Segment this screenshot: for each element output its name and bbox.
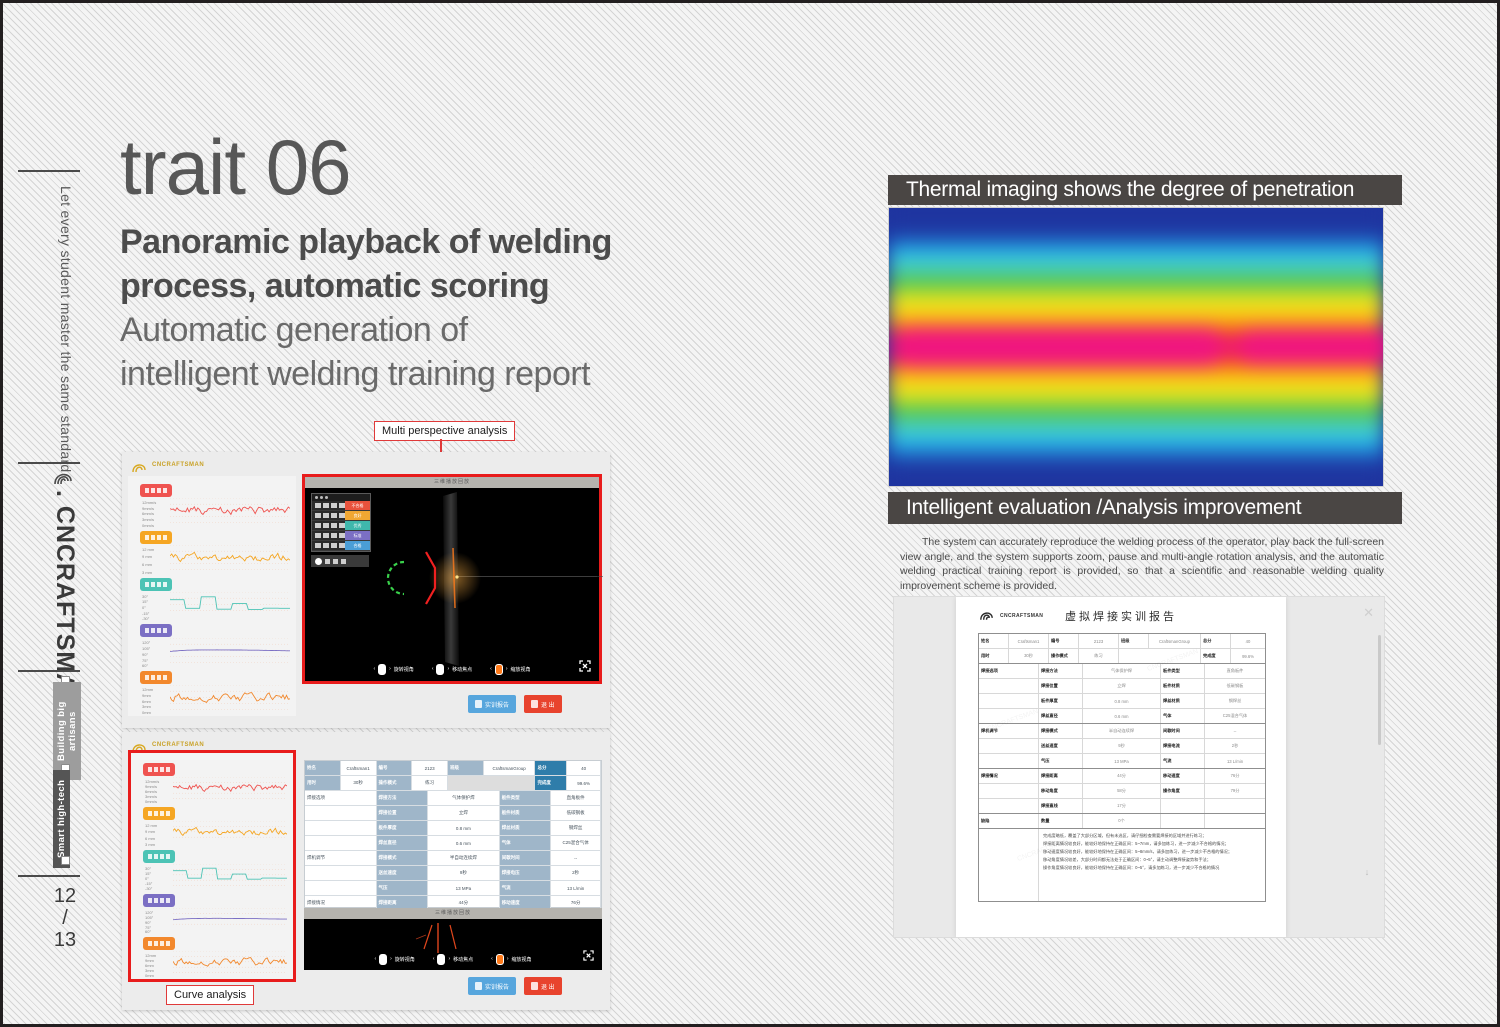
table-cell: 焊接位置 — [377, 806, 429, 820]
table-cell: 气压 — [377, 881, 429, 895]
report-table-cell: 班级 — [1119, 634, 1149, 648]
report-table-cell: CraftsmanGroup — [1149, 634, 1201, 648]
button-label: 实训报告 — [485, 982, 509, 991]
table-cell: 0.8 mm — [428, 821, 500, 835]
table-cell: 13 MPa — [428, 881, 500, 895]
table-row: 板件厚度0.8 mm焊丝材质钢焊丝 — [305, 821, 601, 836]
legend-cells — [312, 511, 345, 520]
table-cell: C25混合气体 — [551, 836, 601, 850]
page-title: Panoramic playback of welding process, a… — [120, 220, 740, 308]
mouse-left-icon — [379, 954, 387, 965]
curve-axis-tick: 6 mm — [145, 836, 155, 841]
table-cell: 板件类型 — [500, 791, 552, 805]
report-table-cell: Craftsman1 — [1009, 634, 1049, 648]
viewer-control-mouse-right-icon[interactable]: ‹›缩放视角 — [490, 664, 530, 675]
report-table-row: 姓名Craftsman1编号2123班级CraftsmanGroup总分40 — [979, 634, 1265, 649]
dot-icon — [315, 496, 318, 499]
report-table-row: 板件厚度0.8 mm焊丝材质钢焊丝 — [979, 694, 1265, 709]
fullscreen-icon[interactable] — [579, 660, 591, 675]
report-table-cell: 焊丝直径 — [1039, 709, 1083, 723]
table-cell: 40 — [567, 761, 601, 775]
button-report-icon[interactable]: 实训报告 — [468, 977, 516, 995]
legend-row[interactable]: 标准 — [312, 531, 370, 541]
report-table-cell — [1205, 799, 1265, 813]
viewer-titlebar: 三维播放回放 — [304, 908, 602, 919]
report-table-cell — [979, 739, 1039, 753]
curve-tag-4 — [143, 937, 175, 950]
report-table-row: 焊接位置立焊板件材质低碳钢板 — [979, 679, 1265, 694]
viewer-control-mouse-left-icon[interactable]: ‹›旋转视角 — [374, 954, 414, 965]
table-row: 焊丝直径0.6 mm气体C25混合气体 — [305, 836, 601, 851]
report-document-preview[interactable]: CNCRAFTSMAN 虚拟焊接实训报告 姓名Craftsman1编号2123班… — [893, 596, 1385, 938]
curve-axis-tick: -30° — [142, 616, 149, 621]
table-cell: 焊接电压 — [500, 866, 552, 880]
legend-row[interactable]: 合格 — [312, 541, 370, 551]
table-cell: 班级 — [448, 761, 484, 775]
curve-tag-0 — [140, 484, 172, 497]
curve-axis-tick: 60° — [145, 929, 151, 934]
sidebar-tagline: Let every student master the same standa… — [58, 186, 74, 473]
curve-axis-tick: 60° — [142, 663, 148, 668]
curve-tag-2 — [140, 578, 172, 591]
curve-tag-0 — [143, 763, 175, 776]
report-table-cell: 30秒 — [1009, 649, 1049, 663]
viewer-titlebar: 三维播放回放 — [305, 477, 599, 488]
app-logo-text: CNCRAFTSMAN — [152, 742, 204, 748]
report-table-cell: 板件材质 — [1161, 679, 1205, 693]
report-table-cell — [1161, 814, 1205, 828]
report-table-cell: 9秒 — [1083, 739, 1161, 753]
report-table-cell: 立焊 — [1083, 679, 1161, 693]
legend-swatch: 良好 — [345, 511, 370, 520]
viewer-control-mouse-left-icon[interactable]: ‹›旋转视角 — [373, 664, 413, 675]
report-table-cell — [979, 694, 1039, 708]
table-cell: 立焊 — [428, 806, 500, 820]
sidebar-divider — [18, 462, 80, 464]
report-table-cell: 17分 — [1083, 799, 1161, 813]
dot-icon — [325, 496, 328, 499]
screenshot-top[interactable]: CNCRAFTSMAN 12mm/s9mm/s6mm/s3mm/s0mm/s12… — [122, 452, 610, 728]
table-cell: 编号 — [377, 761, 413, 775]
table-cell: 13 L/min — [551, 881, 601, 895]
curve-axis-tick: 30° — [142, 594, 148, 599]
report-note-item: 焊接距离情况较良好，能较好地保持在正确区间：5~7mm，请多加练习，进一步减少不… — [1043, 840, 1261, 848]
report-table-cell — [979, 679, 1039, 693]
report-table-cell: 直角板件 — [1205, 664, 1265, 678]
report-table-cell: 2123 — [1079, 634, 1119, 648]
page-canvas: Let every student master the same standa… — [0, 0, 1500, 1027]
page-subtitle-line2: intelligent welding training report — [120, 352, 740, 396]
table-cell: 焊丝材质 — [500, 821, 552, 835]
report-table: 姓名Craftsman1编号2123班级CraftsmanGroup总分40用时… — [304, 760, 602, 908]
table-cell: 气流 — [500, 881, 552, 895]
scrollbar-thumb[interactable] — [1378, 635, 1381, 745]
report-table-cell — [979, 784, 1039, 798]
curve-trace-3 — [170, 638, 290, 663]
tool-cell — [341, 559, 346, 564]
legend-swatch: 优秀 — [345, 521, 370, 530]
curve-tag-1 — [143, 807, 175, 820]
sidebar-divider — [18, 875, 80, 877]
table-cell: 姓名 — [305, 761, 341, 775]
viewer-titlebar-label: 三维播放回放 — [305, 477, 599, 488]
curve-axis-tick: 9 mm — [145, 829, 155, 834]
button-exit-icon[interactable]: 退 出 — [524, 695, 562, 713]
curve-trace-2 — [170, 592, 290, 617]
app-logo-text: CNCRAFTSMAN — [152, 462, 204, 468]
table-cell — [305, 866, 377, 880]
close-icon[interactable]: ✕ — [1363, 606, 1374, 619]
sidebar-divider — [18, 670, 80, 672]
report-table-cell: 钢焊丝 — [1205, 694, 1265, 708]
curve-trace-0 — [170, 498, 290, 523]
curve-axis-tick: 15° — [142, 599, 148, 604]
curve-tag-3 — [140, 624, 172, 637]
badge-dot — [61, 856, 70, 865]
report-table-cell: 99.6% — [1231, 649, 1265, 663]
report-table-row: 焊接直线17分 — [979, 799, 1265, 814]
report-table-cell: 姓名 — [979, 634, 1009, 648]
curve-axis-tick: 0° — [142, 605, 146, 610]
table-cell: 操作模式 — [377, 776, 413, 790]
table-cell — [305, 806, 377, 820]
viewer-control-mouse-right-icon[interactable]: ‹›缩放视角 — [491, 954, 531, 965]
report-table-cell: 编号 — [1049, 634, 1079, 648]
band-intelligent-evaluation: Intelligent evaluation /Analysis improve… — [888, 492, 1402, 524]
cncraftsman-logo-icon — [51, 466, 75, 488]
table-cell: 半自动连续焊 — [428, 851, 500, 865]
report-table-cell: 练习 — [1079, 649, 1119, 663]
screenshot-bottom[interactable]: CNCRAFTSMAN 12mm/s9mm/s6mm/s3mm/s0mm/s12… — [122, 732, 610, 1010]
table-cell — [305, 821, 377, 835]
table-row: 姓名Craftsman1编号2123班级CraftsmanGroup总分40 — [305, 761, 601, 776]
legend-swatch: 合格 — [345, 541, 370, 550]
callout-curve-analysis: Curve analysis — [166, 985, 254, 1005]
viewer-control-label: 旋转视角 — [395, 956, 415, 963]
tool-cell — [325, 559, 330, 564]
table-cell: 9秒 — [428, 866, 500, 880]
button-label: 退 出 — [541, 982, 555, 991]
curve-axis-tick: 6 mm — [142, 562, 152, 567]
report-table-row: 缺陷数量0个 — [979, 814, 1265, 829]
three-d-viewer-top[interactable]: 三维播放回放 — [302, 474, 602, 684]
report-icon — [475, 982, 482, 990]
report-note-item: 移动角度情况较差，大部分时间都无法处于正确区间：0~5°，请主动调整焊接姿势和手… — [1043, 856, 1261, 864]
table-row: 焊接位置立焊板件材质低碳钢板 — [305, 806, 601, 821]
table-cell: 焊接模式 — [377, 851, 429, 865]
table-cell: 总分 — [535, 761, 567, 775]
curve-axis-tick: 0mm — [145, 973, 154, 978]
report-note-item: 完成度略低，覆盖了大部分区域，但有未选区，请仔细检查需要焊接的区域并进行练习； — [1043, 832, 1261, 840]
report-table-cell: 半自动连续焊 — [1083, 724, 1161, 738]
table-row: 用时30秒操作模式练习完成度99.6% — [305, 776, 601, 791]
curve-trace-0 — [173, 777, 287, 799]
mouse-middle-icon — [437, 954, 445, 965]
curve-axis-tick: 6mm/s — [142, 511, 154, 516]
table-cell: 气体 — [500, 836, 552, 850]
report-table-cell: 79分 — [1205, 784, 1265, 798]
curve-axis-tick: 6mm — [142, 699, 151, 704]
viewer-control-label: 移动焦点 — [453, 956, 473, 963]
curve-axis-tick: 3 mm — [145, 842, 155, 847]
curve-axis-tick: 0mm/s — [145, 799, 157, 804]
page-current: 12 — [47, 885, 83, 907]
down-arrow-icon[interactable]: ↓ — [1362, 867, 1372, 877]
mouse-left-icon — [378, 664, 386, 675]
button-label: 实训报告 — [485, 700, 509, 709]
curve-axis-tick: 0mm — [142, 710, 151, 715]
report-table-cell: 移动速度 — [1161, 769, 1205, 783]
table-cell: 完成度 — [535, 776, 567, 790]
curve-axis-tick: 90° — [142, 652, 148, 657]
viewer-control-label: 缩放视角 — [511, 666, 531, 673]
curve-axis-tick: 9 mm — [142, 554, 152, 559]
curve-axis-tick: 3mm — [142, 704, 151, 709]
viewer-controls[interactable]: ‹›旋转视角‹›移动焦点‹›缩放视角 — [305, 661, 599, 677]
page-total: 13 — [47, 929, 83, 951]
curve-tag-4 — [140, 671, 172, 684]
report-table-cell: 气压 — [1039, 754, 1083, 768]
viewer-control-label: 缩放视角 — [512, 956, 532, 963]
table-cell: 0.6 mm — [428, 836, 500, 850]
table-row: 送丝速度9秒焊接电压2秒 — [305, 866, 601, 881]
report-notes-label — [979, 829, 1039, 901]
table-cell: 焊丝直径 — [377, 836, 429, 850]
mouse-right-icon — [496, 954, 504, 965]
exit-icon — [531, 982, 538, 990]
report-table-cell: 低碳钢板 — [1205, 679, 1265, 693]
page-title-line1: Panoramic playback of welding — [120, 220, 740, 264]
app-logo-icon — [130, 459, 148, 475]
report-table-cell: 操作模式 — [1049, 649, 1079, 663]
weld-scene-small — [304, 919, 602, 953]
curve-axis-tick: 9mm/s — [142, 506, 154, 511]
table-cell — [305, 836, 377, 850]
report-table-row: 焊接情况焊接距离44分移动速度76分 — [979, 769, 1265, 784]
viewer-controls[interactable]: ‹›旋转视角‹›移动焦点‹›缩放视角 — [304, 951, 602, 967]
report-table-row: 移动角度58分操作角度79分 — [979, 784, 1265, 799]
table-cell: 气体保护焊 — [428, 791, 500, 805]
curve-axis-tick: 12mm — [142, 687, 153, 692]
report-table-cell — [1161, 799, 1205, 813]
table-cell: 练习 — [412, 776, 448, 790]
mouse-right-icon — [495, 664, 503, 675]
button-report-icon[interactable]: 实训报告 — [468, 695, 516, 713]
fullscreen-icon[interactable] — [583, 950, 594, 964]
report-table-cell: 44分 — [1083, 769, 1161, 783]
curve-axis-tick: -15° — [142, 611, 149, 616]
band-thermal-imaging: Thermal imaging shows the degree of pene… — [888, 175, 1402, 205]
curve-analysis-panel: 12mm/s9mm/s6mm/s3mm/s0mm/s12 mm9 mm6 mm3… — [128, 476, 296, 716]
legend-swatch: 标准 — [345, 531, 370, 540]
screenshot-actions[interactable]: 实训报告退 出 — [468, 695, 562, 713]
table-cell: 焊接方法 — [377, 791, 429, 805]
report-table-cell: 板件厚度 — [1039, 694, 1083, 708]
body-paragraph-text: The system can accurately reproduce the … — [900, 536, 1384, 592]
report-notes-body: 完成度略低，覆盖了大部分区域，但有未选区，请仔细检查需要焊接的区域并进行练习；焊… — [1039, 829, 1265, 901]
table-cell: 送丝速度 — [377, 866, 429, 880]
table-row: 焊接选项焊接方法气体保护焊板件类型直角板件 — [305, 791, 601, 806]
report-table-cell: 焊丝材质 — [1161, 694, 1205, 708]
table-cell: 板件材质 — [500, 806, 552, 820]
report-table-cell: 送丝速度 — [1039, 739, 1083, 753]
report-table-cell: 焊接直线 — [1039, 799, 1083, 813]
report-table-cell: 0.8 mm — [1083, 694, 1161, 708]
report-table-cell — [1205, 814, 1265, 828]
legend-popup-header — [312, 494, 370, 501]
legend-rows: 不合格良好优秀标准合格 — [312, 501, 370, 551]
report-table-cell: 2秒 — [1205, 739, 1265, 753]
sidebar-divider — [18, 170, 80, 172]
report-table-cell — [979, 754, 1039, 768]
table-cell: Craftsman1 — [341, 761, 377, 775]
legend-popup[interactable]: 不合格良好优秀标准合格 — [311, 493, 371, 552]
curve-tag-1 — [140, 531, 172, 544]
table-cell: 焊接选项 — [305, 791, 377, 805]
curve-analysis-panel-highlighted[interactable]: 12mm/s9mm/s6mm/s3mm/s0mm/s12 mm9 mm6 mm3… — [128, 750, 296, 982]
table-cell: 99.6% — [567, 776, 601, 790]
report-table-cell: 气体 — [1161, 709, 1205, 723]
report-table-row: 焊接选项焊接方法气体保护焊板件类型直角板件 — [979, 664, 1265, 679]
legend-toolbar[interactable] — [311, 555, 369, 567]
curve-axis-tick: 12 mm — [145, 823, 157, 828]
legend-row[interactable]: 优秀 — [312, 521, 370, 531]
page-separator: / — [47, 907, 83, 929]
legend-row[interactable]: 不合格 — [312, 501, 370, 511]
report-table-cell: 气流 — [1161, 754, 1205, 768]
curve-trace-4 — [173, 951, 287, 973]
curve-trace-2 — [173, 864, 287, 886]
report-table-cell: 焊接距离 — [1039, 769, 1083, 783]
table-cell — [448, 776, 535, 790]
report-table-cell: 13 L/min — [1205, 754, 1265, 768]
report-table-cell: 间歇时间 — [1161, 724, 1205, 738]
report-table-cell: 0.6 mm — [1083, 709, 1161, 723]
report-table-cell: 焊接情况 — [979, 769, 1039, 783]
curve-axis-tick: -30° — [145, 886, 152, 891]
report-page: CNCRAFTSMAN 虚拟焊接实训报告 姓名Craftsman1编号2123班… — [956, 597, 1286, 938]
report-table-cell: 缺陷 — [979, 814, 1039, 828]
callout-multi-perspective: Multi perspective analysis — [374, 421, 515, 441]
report-table-cell: 76分 — [1205, 769, 1265, 783]
table-cell: 直角板件 — [551, 791, 601, 805]
record-knob-icon[interactable] — [315, 558, 322, 565]
report-table-cell: 完成度 — [1201, 649, 1231, 663]
report-notes-row: 完成度略低，覆盖了大部分区域，但有未选区，请仔细检查需要焊接的区域并进行练习；焊… — [979, 829, 1265, 901]
curve-axis-tick: 12mm/s — [142, 500, 156, 505]
report-table-cell: 58分 — [1083, 784, 1161, 798]
legend-cells — [312, 541, 345, 550]
body-paragraph: The system can accurately reproduce the … — [900, 535, 1384, 593]
curve-axis-tick: 105° — [142, 646, 150, 651]
left-sidebar: Let every student master the same standa… — [0, 0, 96, 1027]
thermal-image — [888, 207, 1384, 487]
report-table-row: 气压13 MPa气流13 L/min — [979, 754, 1265, 769]
curve-axis-tick: 12 mm — [142, 547, 154, 552]
table-cell: 焊机调节 — [305, 851, 377, 865]
button-label: 退 出 — [541, 700, 555, 709]
report-table-cell: 用时 — [979, 649, 1009, 663]
table-cell: 用时 — [305, 776, 341, 790]
report-table-cell: 焊接方法 — [1039, 664, 1083, 678]
curve-tag-2 — [143, 850, 175, 863]
table-cell: 2秒 — [551, 866, 601, 880]
curve-tag-3 — [143, 894, 175, 907]
table-cell: 钢焊丝 — [551, 821, 601, 835]
thermal-gradient — [889, 208, 1383, 486]
report-table-cell: 移动角度 — [1039, 784, 1083, 798]
curve-axis-tick: 3 mm — [142, 570, 152, 575]
table-cell: 板件厚度 — [377, 821, 429, 835]
report-table-cell: 数量 — [1039, 814, 1083, 828]
curve-trace-1 — [170, 545, 290, 570]
report-table-cell: 焊接模式 — [1039, 724, 1083, 738]
report-table-cell: 焊接位置 — [1039, 679, 1083, 693]
legend-row[interactable]: 良好 — [312, 511, 370, 521]
screenshot-actions[interactable]: 实训报告退 出 — [468, 977, 562, 995]
button-exit-icon[interactable]: 退 出 — [524, 977, 562, 995]
viewer-control-label: 移动焦点 — [452, 666, 472, 673]
curve-trace-4 — [170, 685, 290, 710]
page-eyebrow: trait 06 — [120, 128, 740, 206]
table-cell: 低碳钢板 — [551, 806, 601, 820]
viewer-control-mouse-middle-icon[interactable]: ‹›移动焦点 — [433, 954, 473, 965]
curve-axis-tick: 3mm/s — [142, 517, 154, 522]
report-table-row: 用时30秒操作模式练习完成度99.6% — [979, 649, 1265, 664]
report-table-cell: 操作角度 — [1161, 784, 1205, 798]
report-icon — [475, 700, 482, 708]
report-table-cell: 40 — [1231, 634, 1265, 648]
thermal-hot-core — [889, 325, 1383, 369]
curve-axis-tick: 0mm/s — [142, 523, 154, 528]
legend-cells — [312, 531, 345, 540]
legend-cells — [312, 521, 345, 530]
report-note-item: 移动速度情况较良好，能较好地保持在正确区间：5~8mm/s，请多加练习，进一步减… — [1043, 848, 1261, 856]
report-table-cell: -- — [1205, 724, 1265, 738]
table-row: 焊机调节焊接模式半自动连续焊间歇时间-- — [305, 851, 601, 866]
report-table-row: 送丝速度9秒焊接电流2秒 — [979, 739, 1265, 754]
report-table-cell: 总分 — [1201, 634, 1231, 648]
page-title-line2: process, automatic scoring — [120, 264, 740, 308]
page-number: 12 / 13 — [47, 885, 83, 951]
curve-axis-tick: 75° — [142, 658, 148, 663]
report-title: 虚拟焊接实训报告 — [956, 608, 1286, 624]
dot-icon — [320, 496, 323, 499]
legend-swatch: 不合格 — [345, 501, 370, 510]
viewer-control-mouse-middle-icon[interactable]: ‹›移动焦点 — [432, 664, 472, 675]
table-cell: -- — [551, 851, 601, 865]
curve-trace-1 — [173, 821, 287, 843]
table-cell: 30秒 — [341, 776, 377, 790]
table-cell — [305, 881, 377, 895]
legend-cells — [312, 501, 345, 510]
table-cell: 间歇时间 — [500, 851, 552, 865]
table-cell: CraftsmanGroup — [484, 761, 536, 775]
report-table-cell: 13 MPa — [1083, 754, 1161, 768]
curve-trace-3 — [173, 908, 287, 930]
page-subtitle: Automatic generation of intelligent weld… — [120, 308, 740, 396]
report-table-cell: 焊接选项 — [979, 664, 1039, 678]
report-table-cell — [979, 799, 1039, 813]
report-table-cell: C25混合气体 — [1205, 709, 1265, 723]
three-d-viewer-bottom[interactable]: 三维播放回放 ‹›旋转视角‹›移动焦点‹›缩放视角 — [304, 908, 602, 970]
curve-axis-tick: 120° — [142, 640, 150, 645]
mouse-middle-icon — [436, 664, 444, 675]
report-table-cell: 焊接电流 — [1161, 739, 1205, 753]
curve-axis-tick: 9mm — [142, 693, 151, 698]
headline-block: trait 06 Panoramic playback of welding p… — [120, 128, 740, 396]
table-row: 气压13 MPa气流13 L/min — [305, 881, 601, 896]
